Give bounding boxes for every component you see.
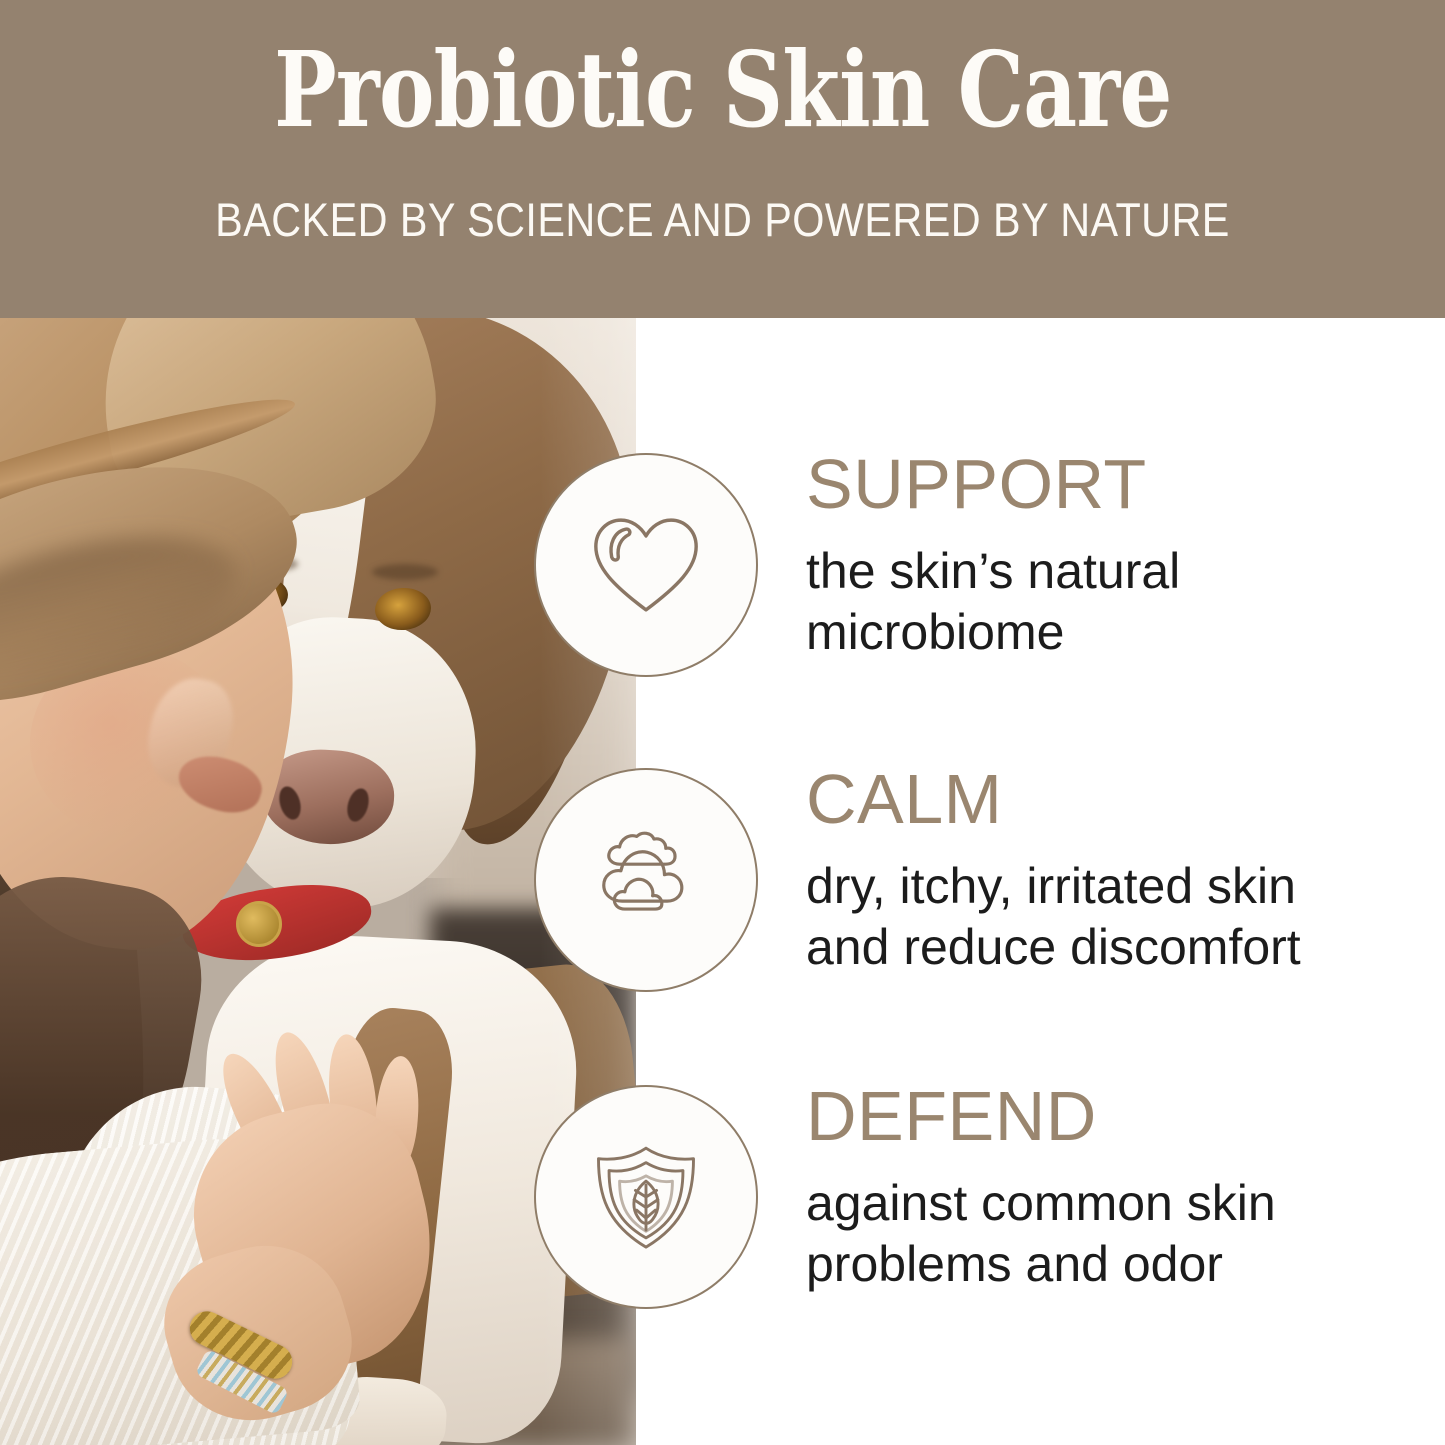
heart-icon xyxy=(580,499,712,631)
clouds-icon xyxy=(580,814,712,946)
benefit-description: dry, itchy, irritated skin and reduce di… xyxy=(806,856,1426,978)
benefit-description-line: the skin’s natural xyxy=(806,541,1426,602)
benefit-description-line: dry, itchy, irritated skin xyxy=(806,856,1426,917)
benefit-description-line: microbiome xyxy=(806,602,1426,663)
benefit-copy: CALM dry, itchy, irritated skin and redu… xyxy=(806,764,1426,978)
benefit-copy: SUPPORT the skin’s natural microbiome xyxy=(806,449,1426,663)
benefit-icon-badge xyxy=(534,768,758,992)
benefit-description-line: problems and odor xyxy=(806,1234,1426,1295)
shield-leaf-icon xyxy=(580,1131,712,1263)
benefit-icon-badge xyxy=(534,453,758,677)
benefit-description: against common skin problems and odor xyxy=(806,1173,1426,1295)
benefit-row-support: SUPPORT the skin’s natural microbiome xyxy=(0,453,1445,678)
benefit-icon-badge xyxy=(534,1085,758,1309)
benefits-list: SUPPORT the skin’s natural microbiome CA… xyxy=(0,318,1445,1445)
header-band: Probiotic Skin Care BACKED BY SCIENCE AN… xyxy=(0,0,1445,318)
benefit-copy: DEFEND against common skin problems and … xyxy=(806,1081,1426,1295)
benefit-description: the skin’s natural microbiome xyxy=(806,541,1426,663)
benefit-heading: DEFEND xyxy=(806,1081,1426,1151)
benefit-heading: CALM xyxy=(806,764,1426,834)
benefit-row-defend: DEFEND against common skin problems and … xyxy=(0,1085,1445,1310)
page-title: Probiotic Skin Care xyxy=(274,38,1171,142)
benefit-description-line: against common skin xyxy=(806,1173,1426,1234)
benefit-row-calm: CALM dry, itchy, irritated skin and redu… xyxy=(0,768,1445,993)
page-subtitle: BACKED BY SCIENCE AND POWERED BY NATURE xyxy=(215,192,1230,247)
benefit-heading: SUPPORT xyxy=(806,449,1426,519)
benefit-description-line: and reduce discomfort xyxy=(806,917,1426,978)
